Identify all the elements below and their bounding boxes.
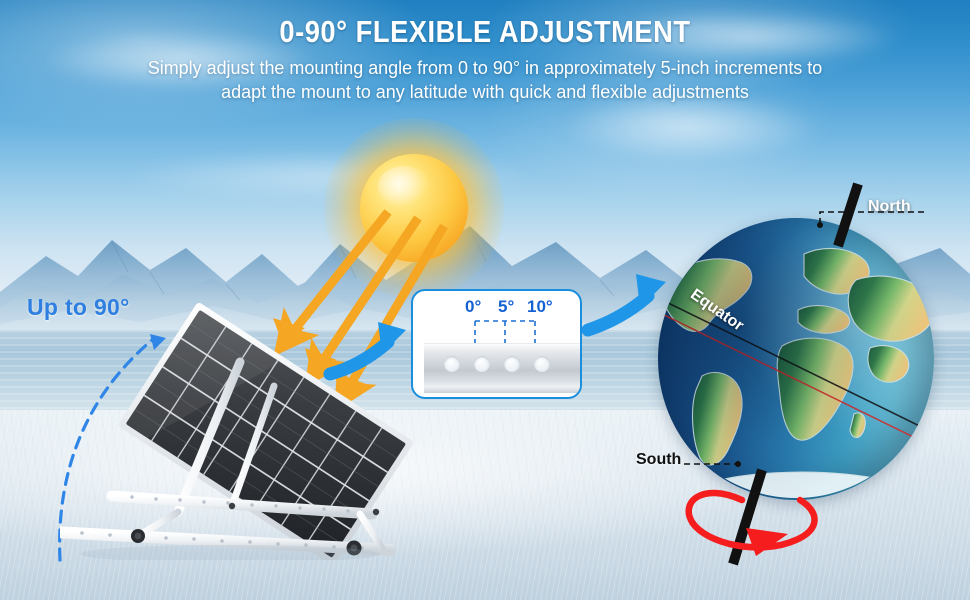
degree-callout-box: 0° 5° 10°	[411, 289, 582, 399]
promo-banner: 0-90° FLEXIBLE ADJUSTMENT Simply adjust …	[0, 0, 970, 600]
north-label: North	[868, 198, 911, 216]
sun-graphic	[352, 146, 476, 270]
sun-highlight	[378, 166, 430, 206]
solar-panel-mount-assembly	[60, 300, 460, 560]
earth-globe	[658, 218, 934, 500]
up-to-90-label: Up to 90°	[27, 294, 130, 321]
subtitle-line-1: Simply adjust the mounting angle from 0 …	[15, 56, 956, 80]
page-title: 0-90° FLEXIBLE ADJUSTMENT	[58, 0, 912, 49]
bracket-hole	[504, 356, 520, 372]
header: 0-90° FLEXIBLE ADJUSTMENT Simply adjust …	[0, 0, 970, 104]
bracket-hole	[534, 356, 550, 372]
subtitle-line-2: adapt the mount to any latitude with qui…	[15, 80, 956, 104]
globe-shading	[658, 218, 934, 500]
bracket-hole	[474, 356, 490, 372]
bracket-hole	[444, 356, 460, 372]
south-label: South	[636, 451, 681, 469]
subtitle: Simply adjust the mounting angle from 0 …	[15, 49, 956, 105]
mount-bracket-closeup	[424, 343, 582, 387]
